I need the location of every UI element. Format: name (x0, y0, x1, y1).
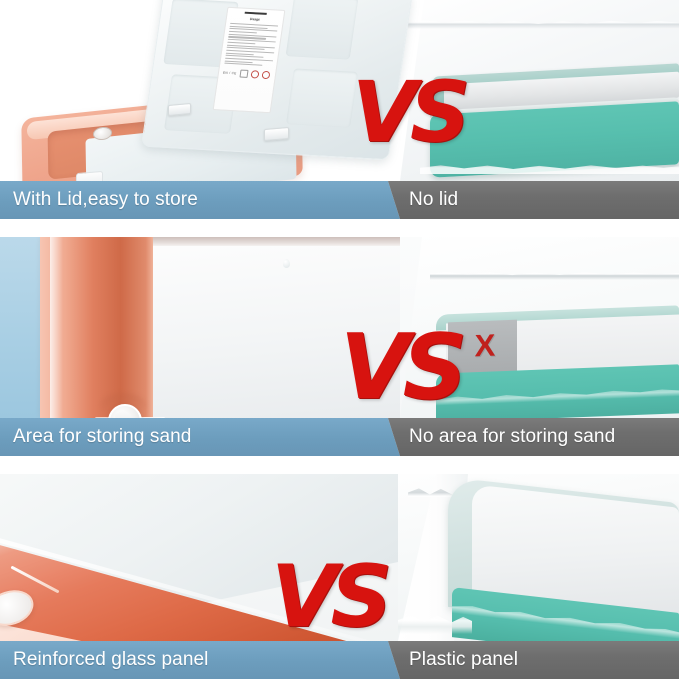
pro-caption-1: With Lid,easy to store (13, 181, 198, 219)
label-header-bar (245, 12, 267, 15)
panel-2-caption-bar: Area for storing sand No area for storin… (0, 418, 679, 456)
vs-badge: VS (271, 562, 386, 633)
ce-mark-icon: EN / CE (223, 71, 237, 76)
comparison-panel-1: Usage EN / CE (0, 0, 679, 219)
age-warning-icon (250, 71, 259, 79)
con-caption-1: No lid (409, 181, 458, 219)
x-mark-icon: X (470, 328, 500, 363)
vs-badge: VS (352, 78, 464, 147)
no-fire-icon (261, 71, 270, 79)
lid-rib (286, 68, 358, 127)
lid-rib (286, 0, 359, 60)
pro-caption-2: Area for storing sand (13, 418, 191, 456)
lid-hinge (264, 127, 289, 141)
label-icon-row: EN / CE (222, 69, 271, 80)
comparison-panel-2: X VS Area for storing sand No area for s… (0, 237, 679, 456)
label-title: Usage (231, 16, 279, 23)
comparison-panel-3: VS Reinforced glass panel Plastic panel (0, 474, 679, 679)
panel-top-edge (153, 237, 400, 246)
comparison-infographic: Usage EN / CE (0, 0, 679, 679)
label-text-line (227, 42, 255, 45)
label-text-line (224, 63, 262, 66)
water-droplet-icon (283, 259, 290, 268)
lid-hinge (168, 103, 191, 116)
panel-1-caption-bar: With Lid,easy to store No lid (0, 181, 679, 219)
pro-caption-3: Reinforced glass panel (13, 641, 208, 679)
con-caption-2: No area for storing sand (409, 418, 615, 456)
coral-wall-highlight (50, 237, 63, 418)
vs-badge: VS (340, 331, 460, 405)
con-caption-3: Plastic panel (409, 641, 518, 679)
wheelie-bin-icon (239, 70, 248, 78)
